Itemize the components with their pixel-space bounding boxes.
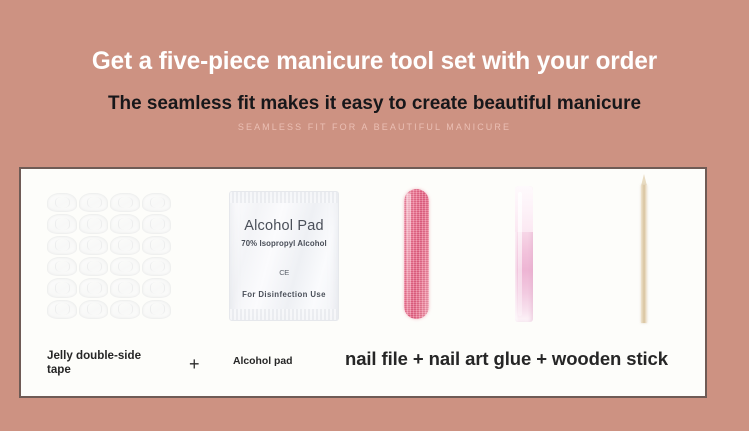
page-title: Get a five-piece manicure tool set with … [11, 0, 738, 76]
caption-plus-separator: + [189, 354, 200, 376]
product-image-nail-file [373, 169, 465, 344]
nail-file-body [404, 189, 429, 319]
glue-tube-highlight [518, 192, 522, 316]
jelly-tab [79, 214, 109, 233]
jelly-tab [110, 193, 140, 212]
jelly-tab [79, 257, 109, 276]
product-set-card: Alcohol Pad 70% Isopropyl Alcohol CE For… [19, 167, 707, 398]
product-image-wooden-stick [589, 169, 699, 344]
jelly-tab [142, 214, 172, 233]
jelly-tab [47, 193, 77, 212]
product-image-jelly-tape [33, 169, 193, 344]
wooden-stick-body [641, 185, 647, 323]
packet-usage-text: For Disinfection Use [230, 290, 338, 299]
jelly-tab [79, 278, 109, 297]
caption-alcohol-pad: Alcohol pad [233, 356, 292, 369]
jelly-tab [110, 214, 140, 233]
jelly-tab [110, 300, 140, 319]
jelly-tab [79, 193, 109, 212]
jelly-tab [47, 278, 77, 297]
jelly-tab [47, 257, 77, 276]
caption-remaining-tools: nail file + nail art glue + wooden stick [345, 348, 668, 371]
product-caption-row: Jelly double-side tape + Alcohol pad nai… [21, 340, 705, 396]
jelly-tab [47, 300, 77, 319]
jelly-tab [110, 236, 140, 255]
jelly-tab [47, 236, 77, 255]
jelly-tab-grid [47, 193, 171, 319]
glue-tube-body [515, 186, 533, 322]
ce-mark-icon: CE [230, 268, 338, 277]
alcohol-pad-packet: Alcohol Pad 70% Isopropyl Alcohol CE For… [229, 191, 339, 321]
product-image-row: Alcohol Pad 70% Isopropyl Alcohol CE For… [21, 169, 705, 344]
jelly-tab [142, 278, 172, 297]
packet-subtitle: 70% Isopropyl Alcohol [230, 239, 338, 248]
jelly-tab [79, 236, 109, 255]
jelly-tab [110, 257, 140, 276]
packet-crimp-top [230, 192, 338, 203]
jelly-tab [142, 193, 172, 212]
packet-crimp-bottom [230, 309, 338, 320]
jelly-tab [142, 257, 172, 276]
promo-tagline: SEAMLESS FIT FOR A BEAUTIFUL MANICURE [0, 114, 749, 133]
jelly-tab [79, 300, 109, 319]
jelly-tab [142, 300, 172, 319]
jelly-tab [142, 236, 172, 255]
product-image-nail-art-glue [479, 169, 571, 344]
promo-subtitle: The seamless fit makes it easy to create… [11, 76, 738, 114]
jelly-tab [110, 278, 140, 297]
jelly-tab [47, 214, 77, 233]
product-image-alcohol-pad: Alcohol Pad 70% Isopropyl Alcohol CE For… [217, 169, 352, 344]
promo-header: Get a five-piece manicure tool set with … [0, 0, 749, 133]
packet-title: Alcohol Pad [230, 218, 338, 234]
caption-jelly-tape: Jelly double-side tape [47, 349, 159, 377]
